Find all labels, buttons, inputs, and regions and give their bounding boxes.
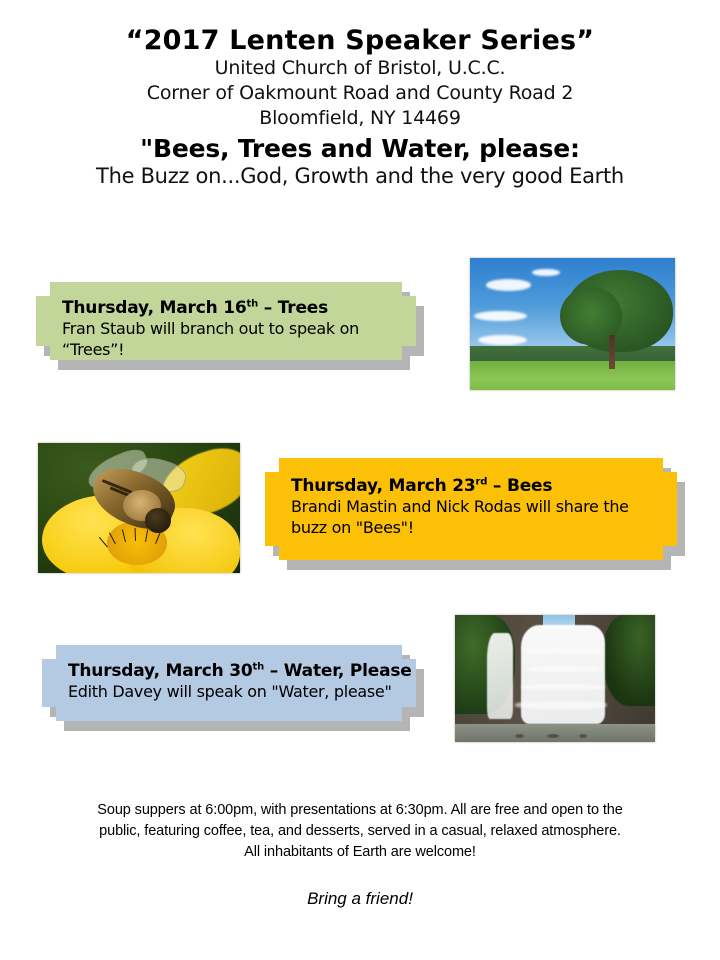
event-description-water: Edith Davey will speak on "Water, please… (68, 682, 394, 703)
organization-name: United Church of Bristol, U.C.C. (0, 56, 720, 81)
tree-trunk (609, 335, 614, 369)
event-row-water: Thursday, March 30th – Water, Please Edi… (0, 610, 720, 755)
banner-body-water: Thursday, March 30th – Water, Please Edi… (42, 645, 416, 721)
event-banner-water: Thursday, March 30th – Water, Please Edi… (42, 645, 416, 721)
series-theme-line2: The Buzz on...God, Growth and the very g… (0, 164, 720, 189)
event-row-bees: Thursday, March 23rd – Bees Brandi Masti… (0, 438, 720, 593)
bee-head (145, 508, 171, 533)
flyer-footer: Soup suppers at 6:00pm, with presentatio… (0, 800, 720, 909)
series-theme-line1: "Bees, Trees and Water, please: (0, 134, 720, 164)
event-date-trees: Thursday, March 16 (62, 298, 247, 318)
banner-body-trees: Thursday, March 16th – Trees Fran Staub … (36, 282, 416, 360)
grass-field (470, 361, 675, 390)
event-date-water: Thursday, March 30 (68, 661, 253, 681)
event-topic-bees: – Bees (487, 476, 552, 496)
event-row-trees: Thursday, March 16th – Trees Fran Staub … (0, 252, 720, 402)
foliage-right (603, 615, 655, 706)
event-title-trees: Thursday, March 16th – Trees (62, 298, 394, 319)
date-ordinal-suffix: rd (476, 476, 488, 487)
date-ordinal-suffix: th (247, 298, 259, 309)
footer-line-3: All inhabitants of Earth are welcome! (0, 842, 720, 863)
event-date-bees: Thursday, March 23 (291, 476, 476, 496)
date-ordinal-suffix: th (253, 661, 265, 672)
flyer-page: “2017 Lenten Speaker Series” United Chur… (0, 0, 720, 960)
footer-line-1: Soup suppers at 6:00pm, with presentatio… (0, 800, 720, 821)
flyer-header: “2017 Lenten Speaker Series” United Chur… (0, 0, 720, 189)
waterfall-main (521, 625, 605, 724)
event-title-bees: Thursday, March 23rd – Bees (291, 476, 655, 497)
event-description-trees: Fran Staub will branch out to speak on “… (62, 319, 394, 361)
waterfall-photo (455, 615, 655, 742)
street-address: Corner of Oakmount Road and County Road … (0, 81, 720, 106)
event-banner-bees: Thursday, March 23rd – Bees Brandi Masti… (265, 458, 677, 560)
event-description-bees: Brandi Mastin and Nick Rodas will share … (291, 497, 655, 539)
bee-photo (38, 443, 240, 573)
tree-photo (470, 258, 675, 390)
closing-call-to-action: Bring a friend! (0, 889, 720, 909)
footer-line-2: public, featuring coffee, tea, and desse… (0, 821, 720, 842)
event-banner-trees: Thursday, March 16th – Trees Fran Staub … (36, 282, 416, 360)
event-topic-water: – Water, Please (264, 661, 412, 681)
banner-body-bees: Thursday, March 23rd – Bees Brandi Masti… (265, 458, 677, 560)
water-pool (455, 724, 655, 742)
waterfall-secondary (487, 633, 513, 719)
event-title-water: Thursday, March 30th – Water, Please (68, 661, 394, 682)
page-title: “2017 Lenten Speaker Series” (0, 26, 720, 56)
city-state-zip: Bloomfield, NY 14469 (0, 106, 720, 131)
event-topic-trees: – Trees (258, 298, 328, 318)
